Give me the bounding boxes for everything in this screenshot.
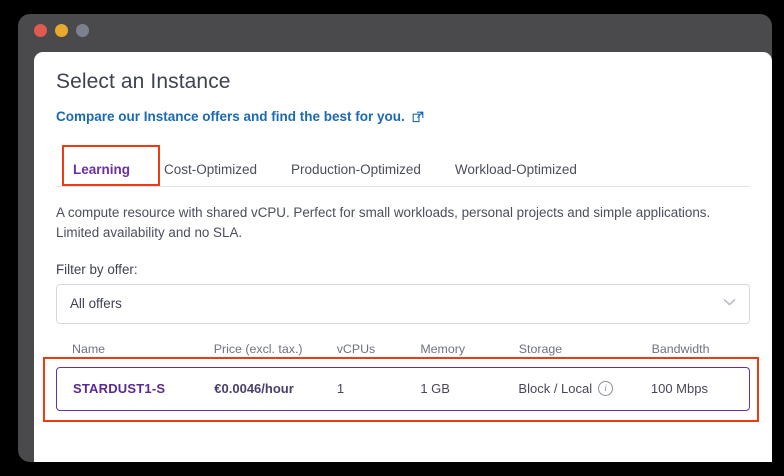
instance-category-tabs: Learning Cost-Optimized Production-Optim… (56, 152, 750, 187)
column-header-storage: Storage (519, 342, 652, 356)
chevron-down-icon (723, 298, 736, 310)
tab-learning[interactable]: Learning (56, 162, 147, 186)
table-row[interactable]: STARDUST1-S €0.0046/hour 1 1 GB Block / … (56, 367, 750, 411)
tab-cost-optimized[interactable]: Cost-Optimized (147, 162, 274, 186)
offer-filter-select[interactable]: All offers (56, 284, 750, 324)
app-window: Select an Instance Compare our Instance … (18, 14, 772, 462)
maximize-window-button[interactable] (76, 24, 89, 37)
instances-table: Name Price (excl. tax.) vCPUs Memory Sto… (56, 342, 750, 411)
compare-offers-link[interactable]: Compare our Instance offers and find the… (56, 109, 424, 124)
column-header-bandwidth: Bandwidth (652, 342, 750, 356)
tab-production-optimized[interactable]: Production-Optimized (274, 162, 438, 186)
column-header-price: Price (excl. tax.) (214, 342, 337, 356)
cell-storage-label: Block / Local (518, 381, 592, 396)
info-icon[interactable]: i (598, 381, 613, 396)
compare-offers-link-label: Compare our Instance offers and find the… (56, 109, 405, 124)
column-header-name: Name (56, 342, 214, 356)
filter-by-offer-label: Filter by offer: (56, 262, 750, 277)
cell-storage: Block / Local i (518, 381, 650, 396)
minimize-window-button[interactable] (55, 24, 68, 37)
page-title: Select an Instance (56, 70, 750, 94)
cell-price: €0.0046/hour (214, 381, 337, 396)
column-header-vcpus: vCPUs (337, 342, 421, 356)
close-window-button[interactable] (34, 24, 47, 37)
external-link-icon (412, 111, 424, 123)
instance-selection-card: Select an Instance Compare our Instance … (34, 52, 772, 462)
table-header-row: Name Price (excl. tax.) vCPUs Memory Sto… (56, 342, 750, 367)
cell-instance-name: STARDUST1-S (57, 381, 214, 396)
cell-memory: 1 GB (420, 381, 518, 396)
cell-bandwidth: 100 Mbps (651, 381, 749, 396)
column-header-memory: Memory (420, 342, 518, 356)
offer-filter-value: All offers (70, 296, 122, 311)
category-description: A compute resource with shared vCPU. Per… (56, 203, 721, 244)
cell-vcpus: 1 (337, 381, 420, 396)
window-titlebar (18, 14, 772, 46)
tab-workload-optimized[interactable]: Workload-Optimized (438, 162, 594, 186)
